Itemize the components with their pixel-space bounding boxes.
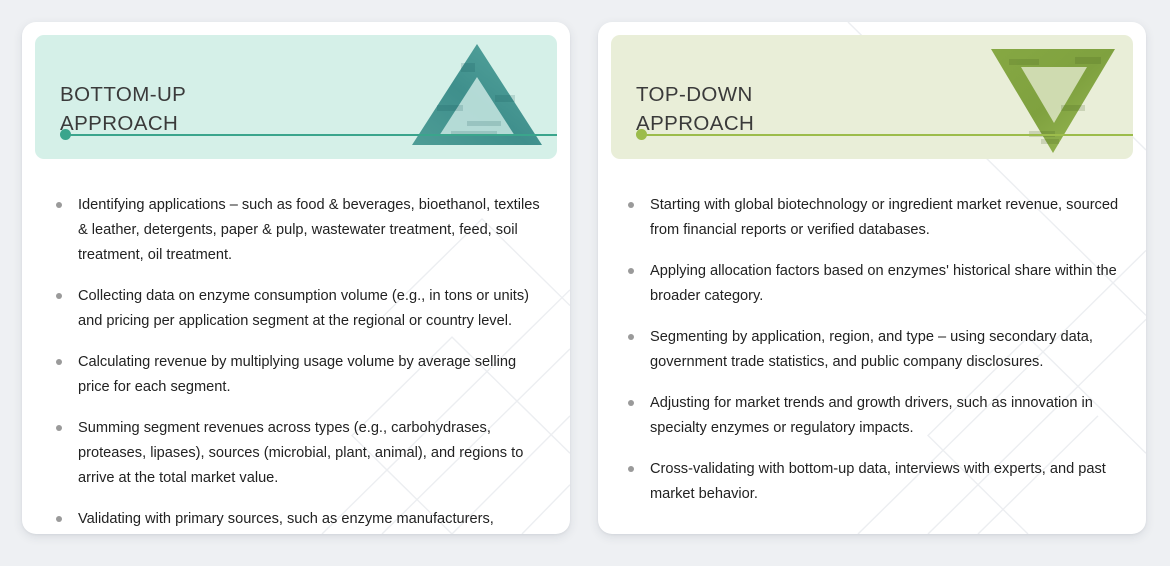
list-item: Applying allocation factors based on enz… <box>620 259 1122 309</box>
accent-line <box>645 134 1133 136</box>
card-bottom-up: BOTTOM-UP APPROACH Identifying applicati… <box>22 22 570 534</box>
bullet-list-bottom-up: Identifying applications – such as food … <box>48 193 540 534</box>
card-header-bottom-up: BOTTOM-UP APPROACH <box>35 35 557 159</box>
header-accent-rule <box>636 129 1133 140</box>
list-item: Validating with primary sources, such as… <box>48 507 540 534</box>
bullet-list-top-down: Starting with global biotechnology or in… <box>620 193 1122 507</box>
accent-line <box>69 134 557 136</box>
list-item: Segmenting by application, region, and t… <box>620 325 1122 375</box>
header-accent-rule <box>60 129 557 140</box>
list-item: Cross-validating with bottom-up data, in… <box>620 457 1122 507</box>
list-item: Starting with global biotechnology or in… <box>620 193 1122 243</box>
card-top-down: TOP-DOWN APPROACH Starting with global b… <box>598 22 1146 534</box>
list-item: Collecting data on enzyme consumption vo… <box>48 284 540 334</box>
list-item: Identifying applications – such as food … <box>48 193 540 268</box>
list-item: Adjusting for market trends and growth d… <box>620 391 1122 441</box>
triangle-up-icon <box>407 35 547 159</box>
card-body-top-down: Starting with global biotechnology or in… <box>598 159 1146 534</box>
list-item: Calculating revenue by multiplying usage… <box>48 350 540 400</box>
card-body-bottom-up: Identifying applications – such as food … <box>22 159 570 534</box>
list-item: Summing segment revenues across types (e… <box>48 416 540 491</box>
card-header-top-down: TOP-DOWN APPROACH <box>611 35 1133 159</box>
comparison-panel: BOTTOM-UP APPROACH Identifying applicati… <box>0 0 1170 566</box>
triangle-down-icon <box>983 35 1123 159</box>
